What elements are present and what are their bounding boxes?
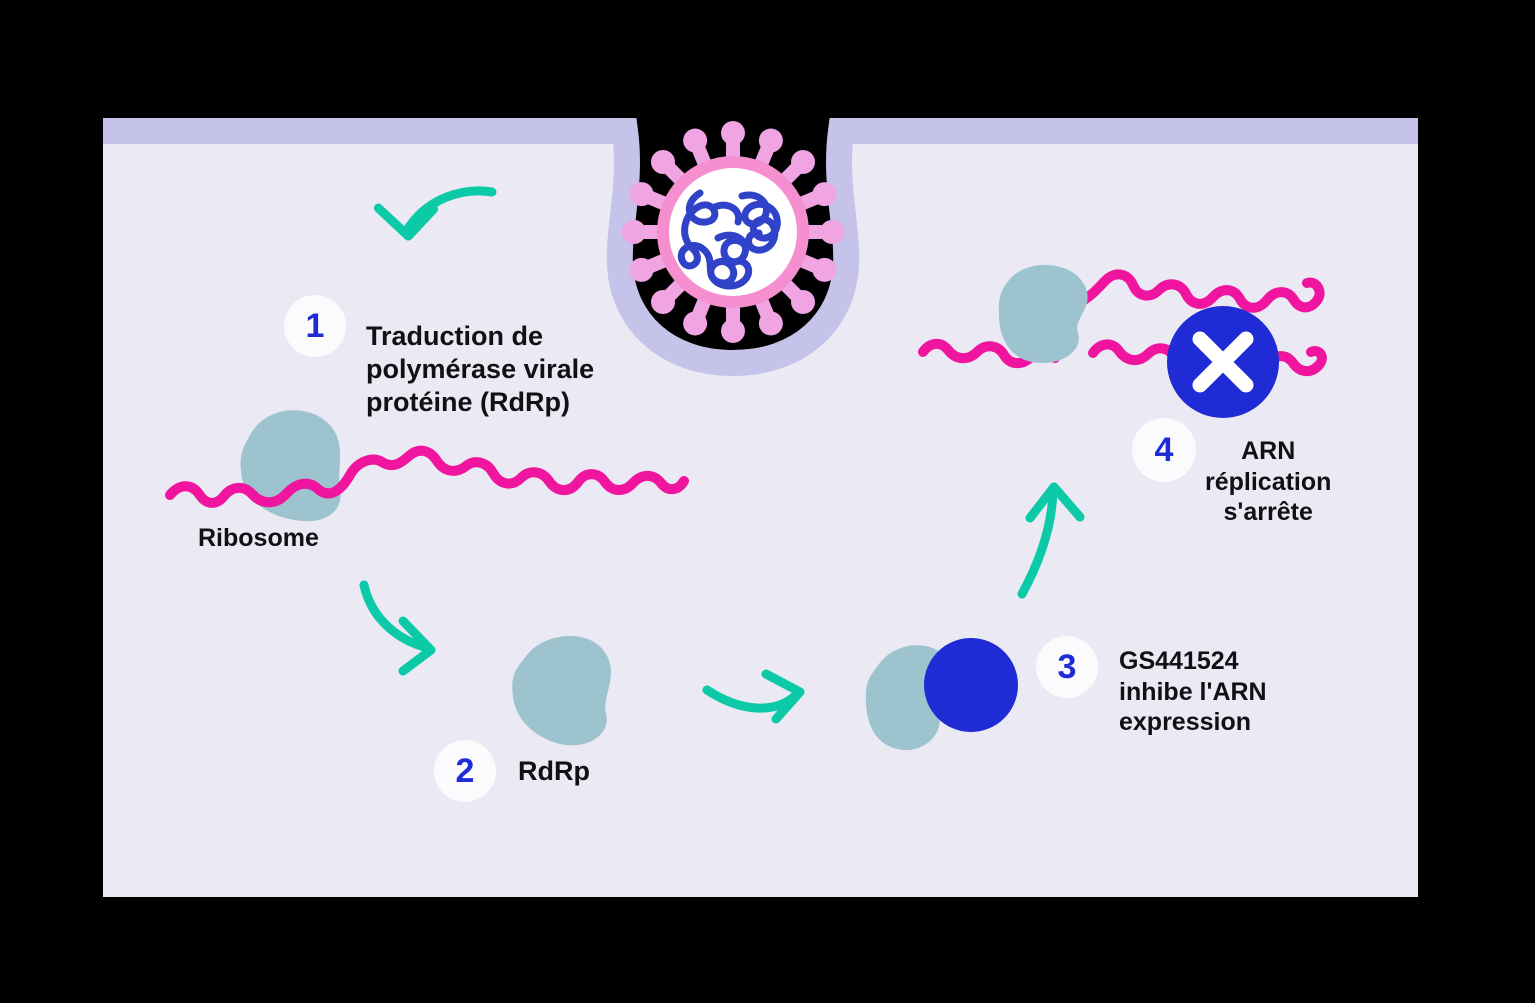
diagram-canvas: 1 2 3 4 Traduction de polymérase virale … bbox=[0, 0, 1535, 1003]
step-4-label: ARN réplication s'arrête bbox=[1205, 436, 1331, 528]
coronavirus-particle bbox=[622, 121, 844, 343]
ribosome-label: Ribosome bbox=[198, 523, 319, 554]
step-badge-3[interactable]: 3 bbox=[1036, 636, 1098, 698]
gs441524-molecule bbox=[924, 638, 1018, 732]
step-badge-4[interactable]: 4 bbox=[1132, 418, 1196, 482]
step-badge-1[interactable]: 1 bbox=[284, 295, 346, 357]
rdrp-blob bbox=[999, 265, 1088, 363]
step-1-label: Traduction de polymérase virale protéine… bbox=[366, 320, 594, 419]
step-badge-2[interactable]: 2 bbox=[434, 740, 496, 802]
step-3-label: GS441524 inhibe l'ARN expression bbox=[1119, 646, 1267, 738]
step-2-label: RdRp bbox=[518, 755, 590, 788]
